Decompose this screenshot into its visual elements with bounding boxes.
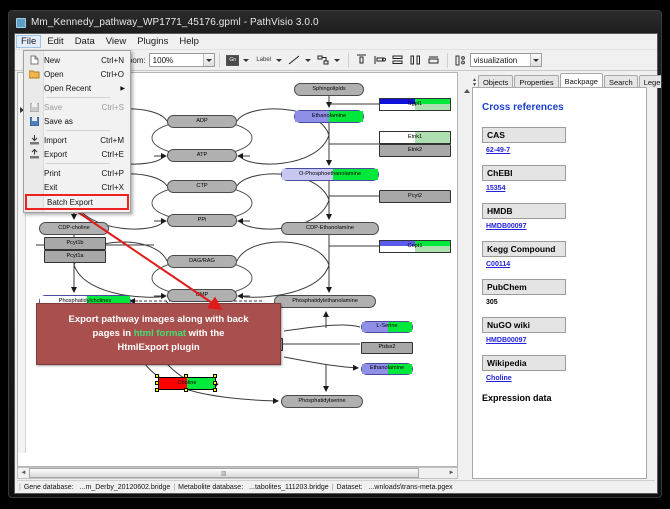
menu-item-batch-export[interactable]: Batch Export bbox=[25, 194, 129, 210]
menu-item-exit[interactable]: Exit Ctrl+X bbox=[24, 180, 130, 194]
client-area: File Edit Data View Plugins Help Zoom: 1… bbox=[14, 33, 658, 494]
menu-item-export[interactable]: Export Ctrl+E bbox=[24, 147, 130, 161]
menu-item-new[interactable]: New Ctrl+N bbox=[24, 53, 130, 67]
window-title: Mm_Kennedy_pathway_WP1771_45176.gpml - P… bbox=[31, 17, 319, 28]
save-as-icon bbox=[24, 117, 44, 126]
export-icon bbox=[24, 149, 44, 159]
menu-item-print[interactable]: Print Ctrl+P bbox=[24, 166, 130, 180]
menu-separator-3 bbox=[46, 163, 110, 164]
menu-item-open-recent[interactable]: Open Recent ▶ bbox=[24, 81, 130, 95]
save-disk-icon bbox=[24, 103, 44, 112]
menu-item-import[interactable]: Import Ctrl+M bbox=[24, 133, 130, 147]
open-folder-icon bbox=[24, 70, 44, 79]
new-file-icon bbox=[24, 55, 44, 65]
pathvisio-app-icon bbox=[14, 16, 26, 28]
submenu-arrow-icon: ▶ bbox=[120, 85, 130, 92]
title-bar: Mm_Kennedy_pathway_WP1771_45176.gpml - P… bbox=[9, 11, 662, 33]
screenshot-root: Mm_Kennedy_pathway_WP1771_45176.gpml - P… bbox=[0, 0, 670, 509]
menu-item-save: Save Ctrl+S bbox=[24, 100, 130, 114]
application-window: Mm_Kennedy_pathway_WP1771_45176.gpml - P… bbox=[8, 10, 662, 498]
file-menu-dropdown[interactable]: New Ctrl+N Open Ctrl+O Open Recent ▶ bbox=[23, 50, 131, 213]
menu-separator-1 bbox=[46, 97, 110, 98]
menu-separator-2 bbox=[46, 130, 110, 131]
import-icon bbox=[24, 135, 44, 145]
menu-item-open[interactable]: Open Ctrl+O bbox=[24, 67, 130, 81]
menu-item-save-as[interactable]: Save as bbox=[24, 114, 130, 128]
